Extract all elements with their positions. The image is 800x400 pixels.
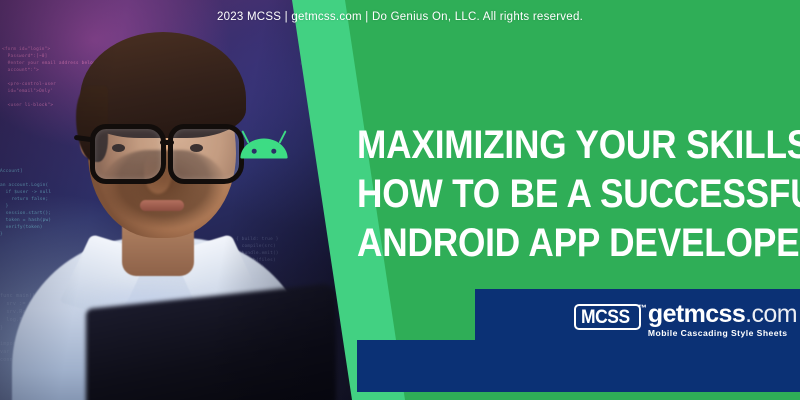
headline-line-1: MAXIMIZING YOUR SKILLS: xyxy=(357,121,735,170)
logo-domain-name: getmcss xyxy=(648,300,745,328)
headline-line-2: HOW TO BE A SUCCESSFUL xyxy=(357,170,735,219)
promo-banner: <form id="login"> Password*:[~0] #enter … xyxy=(0,0,800,400)
logo-domain-tld: .com xyxy=(745,300,797,328)
trademark-icon: ™ xyxy=(638,304,647,313)
copyright-text: 2023 MCSS | getmcss.com | Do Genius On, … xyxy=(217,11,583,23)
logo-mark-text: MCSS xyxy=(581,308,630,327)
headline-highlight-box-line3 xyxy=(357,340,800,392)
logo-domain: getmcss.com xyxy=(648,301,797,327)
glasses-bridge xyxy=(160,140,174,145)
mcss-logo[interactable]: MCSS ™ getmcss.com Mobile Cascading Styl… xyxy=(574,301,797,339)
logo-mark-box: MCSS ™ xyxy=(574,304,641,330)
android-robot-icon xyxy=(233,127,295,169)
glasses-lens-left xyxy=(90,124,166,184)
headline-line-2-highlight: BE A SUCCESSFUL xyxy=(510,172,800,216)
logo-wordmark: getmcss.com Mobile Cascading Style Sheet… xyxy=(648,301,797,339)
headline-line-2-plain: HOW TO xyxy=(357,172,510,216)
logo-tagline: Mobile Cascading Style Sheets xyxy=(648,328,797,339)
header-bar: 2023 MCSS | getmcss.com | Do Genius On, … xyxy=(0,0,800,34)
headline-block: MAXIMIZING YOUR SKILLS: HOW TO BE A SUCC… xyxy=(357,121,787,268)
mouth xyxy=(140,200,184,211)
eyeglasses xyxy=(84,124,246,178)
headline-line-3: ANDROID APP DEVELOPER xyxy=(357,219,735,268)
